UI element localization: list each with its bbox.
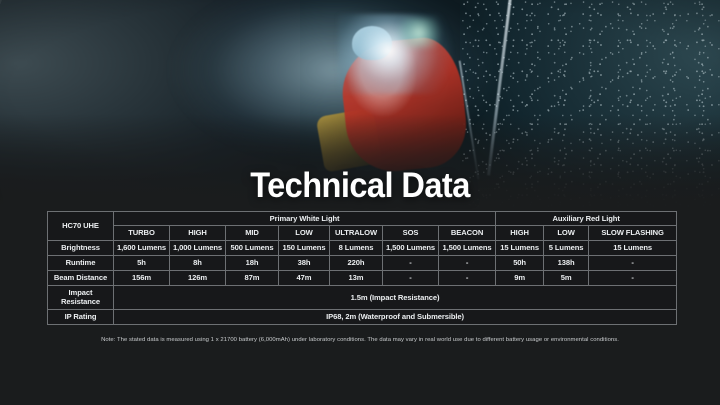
mode-header-beacon: BEACON	[439, 226, 496, 240]
cell-beam-distance-red-low: 5m	[544, 270, 589, 285]
technical-data-table: HC70 UHE Primary White Light Auxiliary R…	[47, 211, 677, 325]
table-mode-header-row: TURBO HIGH MID LOW ULTRALOW SOS BEACON H…	[48, 226, 677, 240]
technical-data-poster: Technical Data HC70 UHE Primary White Li…	[0, 0, 720, 405]
table-row-impact-resistance: Impact Resistance 1.5m (Impact Resistanc…	[48, 285, 677, 309]
table-row-brightness: Brightness 1,600 Lumens 1,000 Lumens 500…	[48, 240, 677, 255]
cell-brightness-red-slow-flashing: 15 Lumens	[589, 240, 677, 255]
cell-brightness-mid: 500 Lumens	[226, 240, 279, 255]
cell-brightness-red-high: 15 Lumens	[496, 240, 544, 255]
cell-brightness-turbo: 1,600 Lumens	[114, 240, 170, 255]
mode-header-sos: SOS	[383, 226, 439, 240]
cell-runtime-low: 38h	[279, 255, 330, 270]
row-label-brightness: Brightness	[48, 240, 114, 255]
row-label-impact-resistance-line1: Impact	[69, 288, 93, 297]
table-group-header-row: HC70 UHE Primary White Light Auxiliary R…	[48, 212, 677, 226]
row-label-runtime: Runtime	[48, 255, 114, 270]
cell-beam-distance-ultralow: 13m	[330, 270, 383, 285]
group-header-auxiliary-red-light: Auxiliary Red Light	[496, 212, 677, 226]
cell-beam-distance-low: 47m	[279, 270, 330, 285]
cell-beam-distance-beacon: -	[439, 270, 496, 285]
table-row-beam-distance: Beam Distance 156m 126m 87m 47m 13m - - …	[48, 270, 677, 285]
mode-header-red-slow-flashing: SLOW FLASHING	[589, 226, 677, 240]
cell-brightness-beacon: 1,500 Lumens	[439, 240, 496, 255]
cell-runtime-ultralow: 220h	[330, 255, 383, 270]
cell-beam-distance-turbo: 156m	[114, 270, 170, 285]
mode-header-high: HIGH	[170, 226, 226, 240]
cell-impact-resistance-value: 1.5m (Impact Resistance)	[114, 285, 677, 309]
cell-brightness-red-low: 5 Lumens	[544, 240, 589, 255]
cell-brightness-low: 150 Lumens	[279, 240, 330, 255]
mode-header-red-high: HIGH	[496, 226, 544, 240]
cell-runtime-red-low: 138h	[544, 255, 589, 270]
row-label-ip-rating: IP Rating	[48, 309, 114, 324]
table-row-ip-rating: IP Rating IP68, 2m (Waterproof and Subme…	[48, 309, 677, 324]
page-title: Technical Data	[25, 166, 695, 205]
mode-header-mid: MID	[226, 226, 279, 240]
cell-brightness-high: 1,000 Lumens	[170, 240, 226, 255]
technical-data-table-wrapper: HC70 UHE Primary White Light Auxiliary R…	[47, 211, 676, 325]
cell-runtime-mid: 18h	[226, 255, 279, 270]
mode-header-ultralow: ULTRALOW	[330, 226, 383, 240]
row-label-impact-resistance-line2: Resistance	[61, 297, 100, 306]
cell-runtime-high: 8h	[170, 255, 226, 270]
group-header-primary-white-light: Primary White Light	[114, 212, 496, 226]
cell-runtime-sos: -	[383, 255, 439, 270]
table-row-runtime: Runtime 5h 8h 18h 38h 220h - - 50h 138h …	[48, 255, 677, 270]
cell-beam-distance-red-slow-flashing: -	[589, 270, 677, 285]
cell-beam-distance-sos: -	[383, 270, 439, 285]
cell-beam-distance-mid: 87m	[226, 270, 279, 285]
row-label-impact-resistance: Impact Resistance	[48, 285, 114, 309]
footnote-line-2: due to different battery usage or enviro…	[464, 337, 619, 343]
cell-ip-rating-value: IP68, 2m (Waterproof and Submersible)	[114, 309, 677, 324]
cell-runtime-turbo: 5h	[114, 255, 170, 270]
row-label-beam-distance: Beam Distance	[48, 270, 114, 285]
cell-runtime-red-slow-flashing: -	[589, 255, 677, 270]
mode-header-red-low: LOW	[544, 226, 589, 240]
cell-beam-distance-red-high: 9m	[496, 270, 544, 285]
mode-header-turbo: TURBO	[114, 226, 170, 240]
cell-brightness-sos: 1,500 Lumens	[383, 240, 439, 255]
cell-runtime-beacon: -	[439, 255, 496, 270]
mode-header-low: LOW	[279, 226, 330, 240]
cell-runtime-red-high: 50h	[496, 255, 544, 270]
product-name-cell: HC70 UHE	[48, 212, 114, 241]
footnote-note: Note: The stated data is measured using …	[60, 336, 660, 344]
cell-beam-distance-high: 126m	[170, 270, 226, 285]
footnote-line-1: Note: The stated data is measured using …	[101, 337, 462, 343]
cell-brightness-ultralow: 8 Lumens	[330, 240, 383, 255]
